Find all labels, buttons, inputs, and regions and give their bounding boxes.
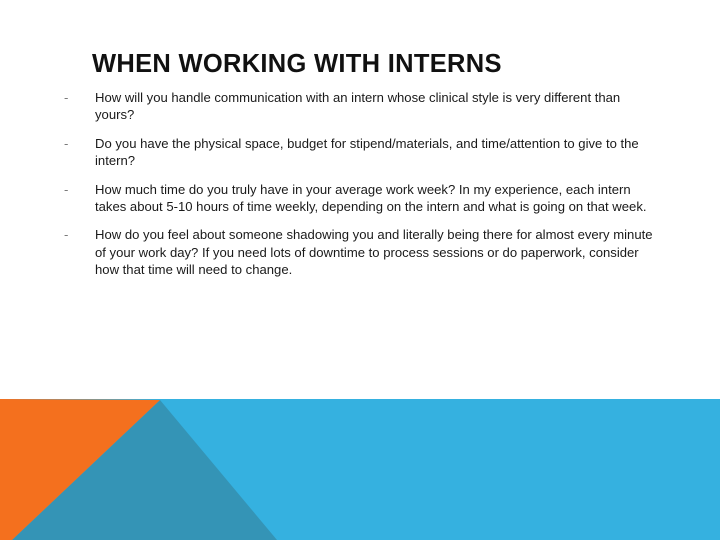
footer-triangles-graphic [0, 399, 720, 540]
bullet-list: - How will you handle communication with… [60, 89, 660, 279]
list-item-text: How will you handle communication with a… [95, 89, 660, 124]
bullet-dash-icon: - [64, 89, 76, 106]
footer-decoration [0, 399, 720, 540]
bullet-dash-icon: - [64, 181, 76, 198]
list-item: - How much time do you truly have in you… [60, 181, 660, 216]
slide: When working with interns - How will you… [0, 0, 720, 540]
list-item-text: How do you feel about someone shadowing … [95, 226, 660, 278]
page-title: When working with interns [92, 49, 662, 79]
list-item: - How do you feel about someone shadowin… [60, 226, 660, 278]
list-item-text: How much time do you truly have in your … [95, 181, 660, 216]
bullet-dash-icon: - [64, 135, 76, 152]
list-item-text: Do you have the physical space, budget f… [95, 135, 660, 170]
list-item: - Do you have the physical space, budget… [60, 135, 660, 170]
bullet-dash-icon: - [64, 226, 76, 243]
list-item: - How will you handle communication with… [60, 89, 660, 124]
